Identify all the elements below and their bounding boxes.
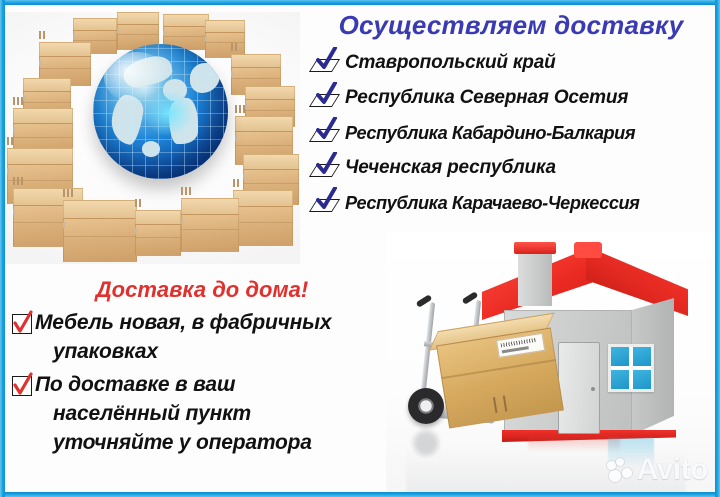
delivery-poster: Осуществляем доставку Ставропольский кра… bbox=[0, 0, 720, 497]
list-item-line: упаковках bbox=[35, 337, 158, 366]
check-glyph bbox=[316, 117, 338, 141]
window-icon bbox=[608, 344, 654, 392]
list-item-line: По доставке в ваш bbox=[35, 373, 235, 396]
checkbox-checked-icon bbox=[12, 376, 32, 396]
list-item: Ставропольский край bbox=[305, 45, 717, 80]
delivery-regions-section: Осуществляем доставку Ставропольский кра… bbox=[305, 8, 717, 240]
list-item-label: Чеченская республика bbox=[345, 157, 556, 179]
check-glyph bbox=[12, 310, 34, 336]
list-item-label: Республика Кабардино-Балкария bbox=[345, 122, 635, 144]
chimney-cap bbox=[514, 242, 556, 254]
avito-dots-icon bbox=[607, 458, 633, 482]
checkmark-box-icon bbox=[312, 155, 340, 181]
avito-wordmark: Avito bbox=[637, 455, 708, 485]
list-item: Республика Карачаево-Черкессия bbox=[305, 185, 717, 220]
checkbox-checked-icon bbox=[12, 314, 32, 334]
check-glyph bbox=[316, 82, 338, 106]
list-item-label: Мебель новая, в фабричных упаковках bbox=[35, 308, 331, 366]
region-list: Ставропольский край Республика Северная … bbox=[305, 45, 717, 220]
roof-ridge bbox=[574, 242, 602, 258]
door-icon bbox=[558, 342, 600, 434]
list-item-line: населённый пункт bbox=[35, 399, 251, 428]
promo-headline: Доставка до дома! bbox=[12, 276, 384, 304]
check-glyph bbox=[12, 372, 34, 398]
checkmark-box-icon bbox=[312, 120, 340, 146]
hand-truck-wheel bbox=[408, 388, 444, 424]
list-item: По доставке в ваш населённый пункт уточн… bbox=[12, 370, 384, 457]
cardboard-box bbox=[436, 327, 564, 428]
check-glyph bbox=[316, 47, 338, 71]
globe-icon bbox=[93, 44, 228, 179]
floor-reflection bbox=[410, 428, 442, 458]
list-item: Республика Северная Осетия bbox=[305, 80, 717, 115]
checkmark-box-icon bbox=[312, 85, 340, 111]
check-glyph bbox=[316, 152, 338, 176]
check-glyph bbox=[316, 187, 338, 211]
list-item-label: Ставропольский край bbox=[345, 52, 555, 74]
list-item-line: Мебель новая, в фабричных bbox=[35, 311, 331, 334]
chimney-icon bbox=[518, 248, 552, 306]
home-delivery-section: Доставка до дома! Мебель новая, в фабрич… bbox=[12, 276, 384, 488]
list-item: Мебель новая, в фабричных упаковках bbox=[12, 308, 384, 366]
list-item-line: уточняйте у оператора bbox=[35, 428, 312, 457]
list-item: Республика Кабардино-Балкария bbox=[305, 115, 717, 150]
floor-reflection bbox=[528, 436, 620, 452]
avito-watermark: Avito bbox=[607, 455, 708, 485]
poster-border-bottom bbox=[0, 492, 720, 497]
checkmark-box-icon bbox=[312, 190, 340, 216]
list-item: Чеченская республика bbox=[305, 150, 717, 185]
page-title: Осуществляем доставку bbox=[305, 8, 717, 42]
list-item-label: Республика Карачаево-Черкессия bbox=[345, 192, 639, 214]
list-item-label: По доставке в ваш населённый пункт уточн… bbox=[35, 370, 312, 457]
poster-border-top bbox=[0, 0, 720, 5]
globe-with-cardboard-boxes-illustration bbox=[5, 12, 300, 264]
list-item-label: Республика Северная Осетия bbox=[345, 87, 628, 109]
checkmark-box-icon bbox=[312, 50, 340, 76]
